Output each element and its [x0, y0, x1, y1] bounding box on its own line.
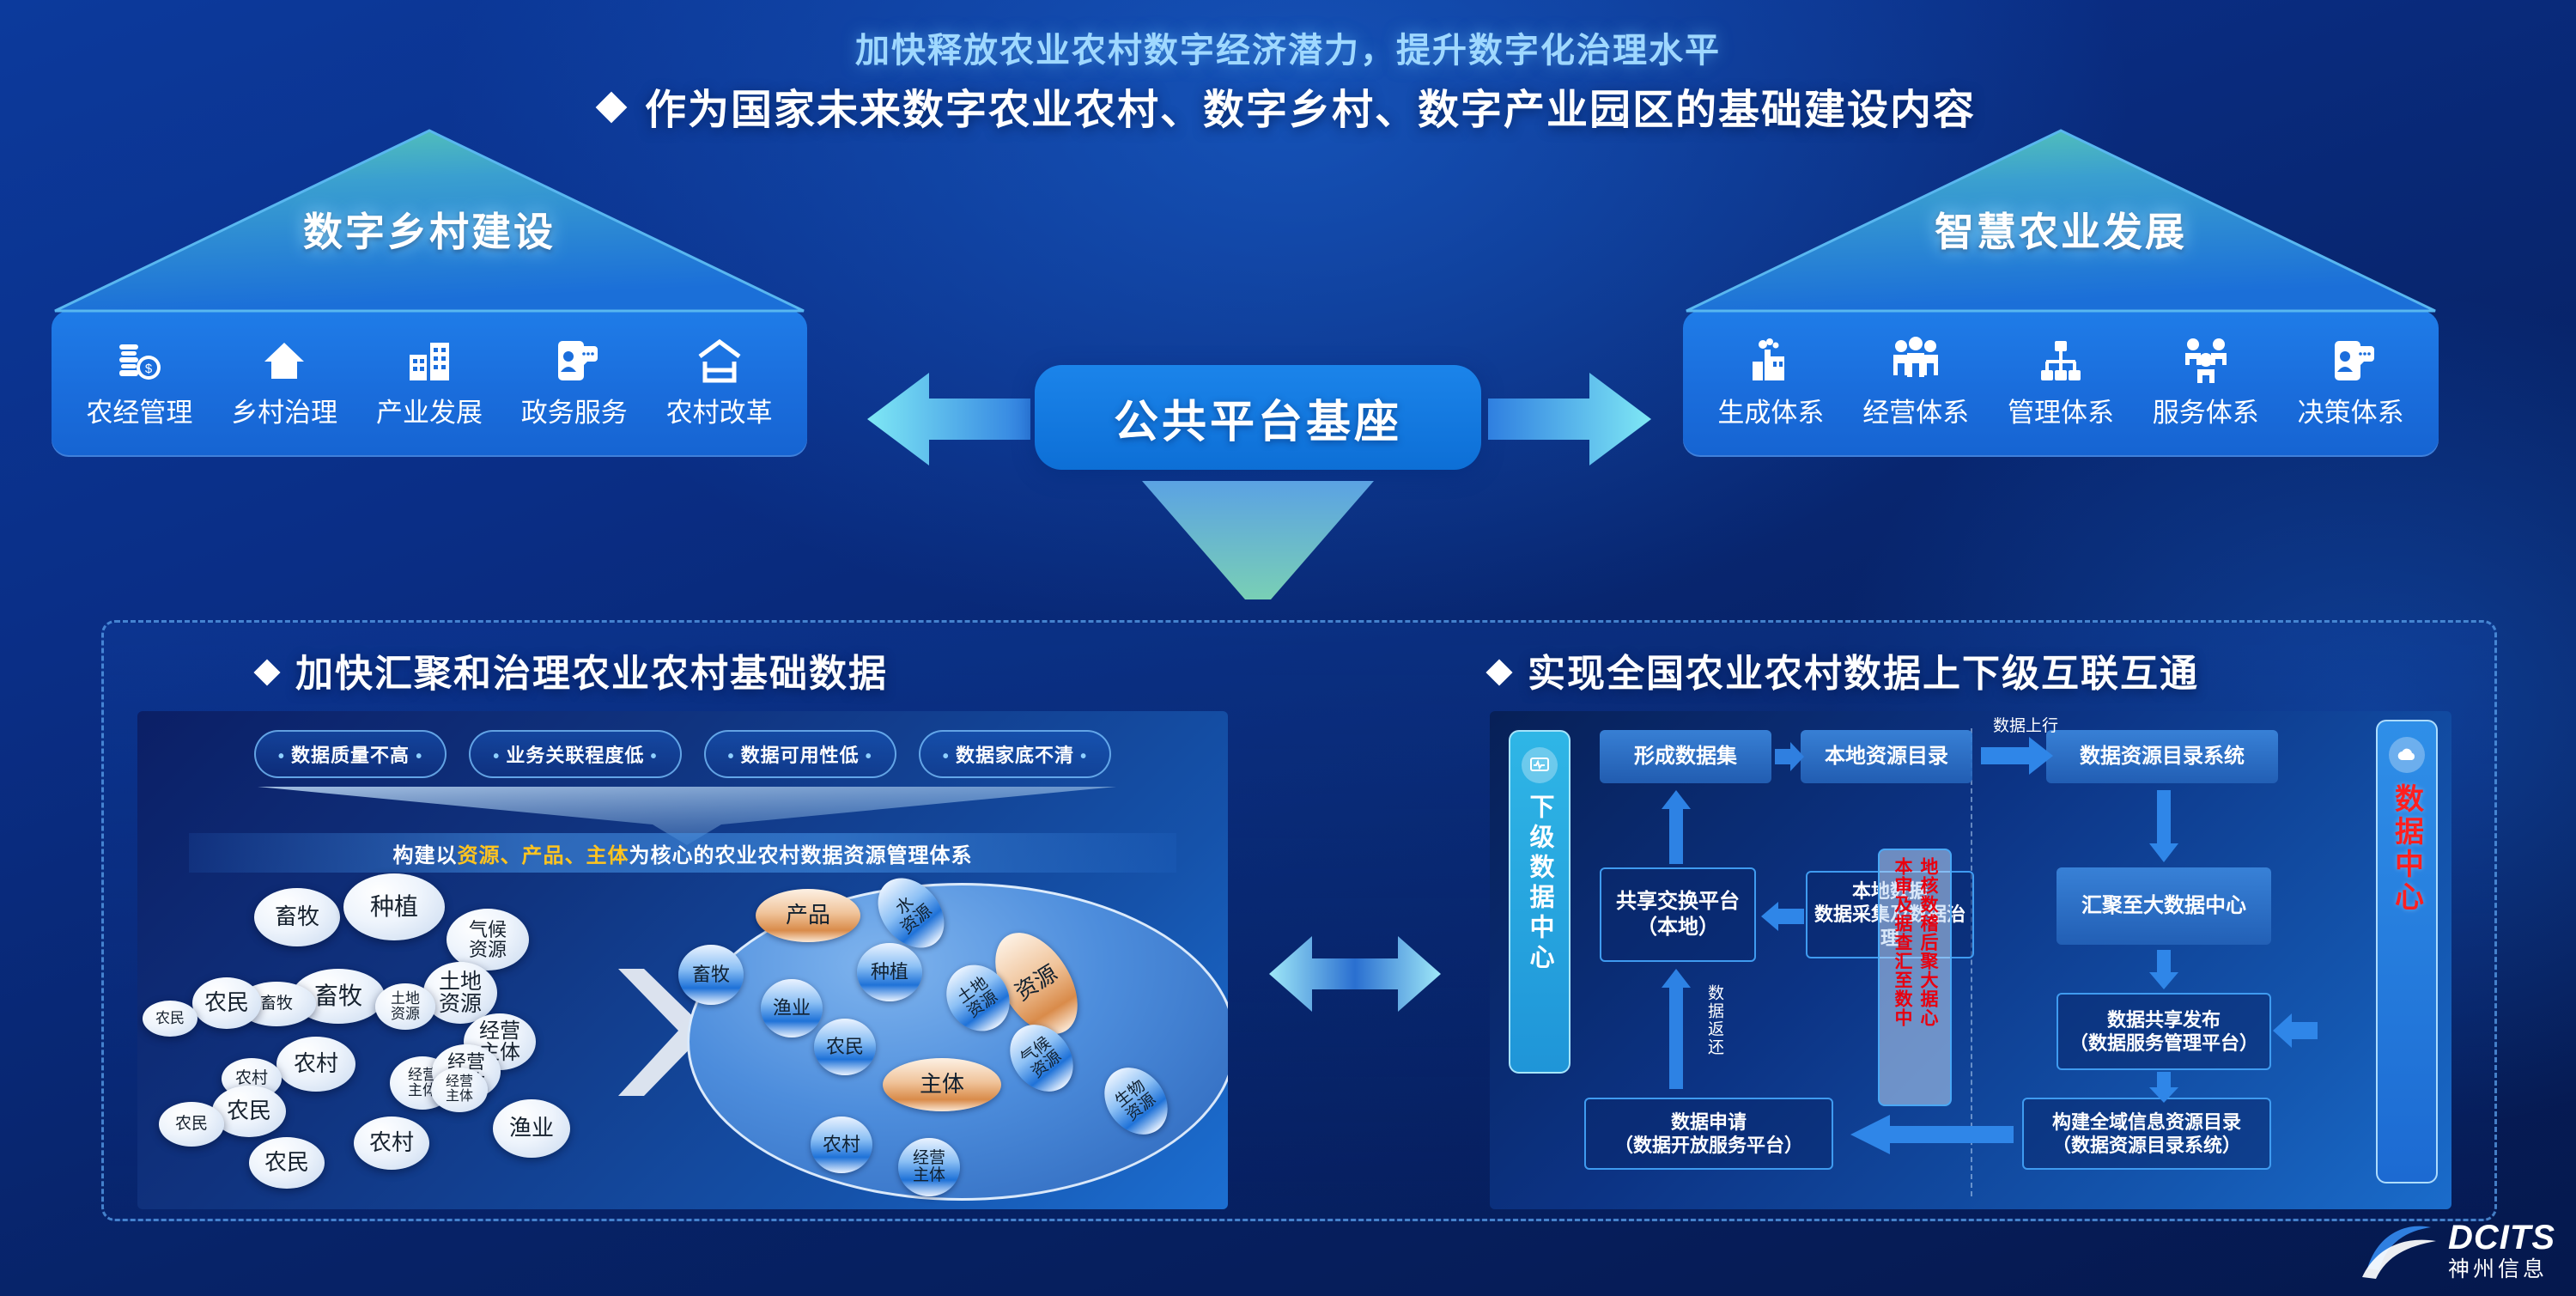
- right-item-1[interactable]: 经营体系: [1847, 331, 1984, 429]
- public-platform-base[interactable]: 公共平台基座: [1035, 365, 1481, 470]
- box-exchange-platform[interactable]: 共享交换平台 （本地）: [1600, 867, 1756, 962]
- org-chart-icon: [2036, 331, 2086, 386]
- left-section-heading: 加快汇聚和治理农业农村基础数据: [258, 642, 888, 697]
- core-model-node: 主体: [883, 1058, 1001, 1111]
- digital-village-title: 数字乡村建设: [52, 201, 807, 258]
- red-annotation-box: 本审及据查汇至数中 地核数稽后聚大据心: [1878, 849, 1952, 1106]
- banner-suffix: 为核心的农业农村数据资源管理体系: [629, 838, 973, 868]
- arrow-up-long-icon: [1662, 969, 1691, 1089]
- service-people-icon: [2179, 331, 2233, 386]
- left-item-4[interactable]: 农村改革: [651, 331, 788, 429]
- arrow-right-small-icon: [1775, 742, 1804, 771]
- core-model-node: 渔业: [761, 979, 823, 1037]
- factory-icon: [1746, 331, 1795, 386]
- mobile-decision-icon: [2326, 331, 2376, 386]
- left-item-2-label: 产业发展: [376, 391, 483, 429]
- data-center-label: 数据中心: [2386, 783, 2428, 914]
- smart-agriculture-title: 智慧农业发展: [1683, 201, 2439, 258]
- core-system-banner: 构建以资源、产品、主体为核心的农业农村数据资源管理体系: [189, 833, 1176, 873]
- buildings-icon: [404, 331, 454, 386]
- problem-pill[interactable]: • 业务关联程度低 •: [469, 730, 681, 778]
- core-model-node: 农村: [811, 1117, 872, 1173]
- core-model-node: 畜牧: [678, 945, 744, 1005]
- left-item-1-label: 乡村治理: [231, 391, 337, 429]
- problem-pill-row: • 数据质量不高 • • 业务关联程度低 • • 数据可用性低 • • 数据家底…: [137, 730, 1228, 778]
- right-item-4-label: 决策体系: [2298, 391, 2404, 429]
- raw-data-bubble: 农村: [276, 1037, 355, 1092]
- core-model-node: 农民: [814, 1019, 876, 1075]
- raw-data-bubble: 经营 主体: [431, 1068, 488, 1112]
- logo-cn: 神州信息: [2448, 1259, 2555, 1281]
- core-model-node: 产品: [756, 889, 860, 942]
- core-model-node: 经营 主体: [898, 1138, 960, 1196]
- banner-prefix: 构建以: [393, 838, 458, 868]
- box-data-apply[interactable]: 数据申请 （数据开放服务平台）: [1584, 1098, 1833, 1170]
- smart-agriculture-block: 智慧农业发展 生成体系: [1683, 127, 2439, 457]
- raw-data-bubble: 农民: [192, 977, 261, 1029]
- raw-data-bubble: 农民: [159, 1102, 224, 1147]
- cloud-icon: [2389, 737, 2425, 773]
- people-group-icon: [1889, 331, 1942, 386]
- raw-data-bubble: 农民: [143, 1001, 197, 1037]
- right-item-0-label: 生成体系: [1717, 391, 1824, 429]
- right-section-heading: 实现全国农业农村数据上下级互联互通: [1490, 642, 2199, 697]
- left-item-0-label: 农经管理: [86, 391, 192, 429]
- digital-village-block: 数字乡村建设 $ 农经管理: [52, 127, 807, 457]
- red-note-right-column: 地核数稽后聚大据心: [1915, 857, 1941, 1027]
- box-aggregate-center[interactable]: 汇聚至大数据中心: [2057, 867, 2271, 945]
- slide-canvas: 加快释放农业农村数字经济潜力，提升数字化治理水平 作为国家未来数字农业农村、数字…: [0, 0, 2576, 1296]
- problem-pill-label: 数据可用性低: [741, 745, 860, 766]
- data-interconnect-board: 下级数据中心 数据中心 形成数据集 本地资源目录 数据资源目录系统 共享交换平台…: [1490, 711, 2451, 1209]
- data-governance-board: • 数据质量不高 • • 业务关联程度低 • • 数据可用性低 • • 数据家底…: [137, 711, 1228, 1209]
- arrow-right-icon: [1488, 369, 1651, 469]
- data-center-rail[interactable]: 数据中心: [2376, 720, 2438, 1183]
- arrow-left-icon: [867, 369, 1030, 469]
- problem-pill[interactable]: • 数据家底不清 •: [919, 730, 1111, 778]
- right-item-2[interactable]: 管理体系: [1992, 331, 2129, 429]
- coin-stack-icon: $: [114, 331, 164, 386]
- right-item-1-label: 经营体系: [1862, 391, 1969, 429]
- banner-highlight: 资源、产品、主体: [458, 838, 629, 868]
- subordinate-data-center-label: 下级数据中心: [1522, 794, 1558, 974]
- core-model-node: 种植: [857, 943, 922, 1001]
- arrow-bidirectional-icon: [1269, 921, 1441, 1032]
- house-icon: [259, 331, 309, 386]
- digital-village-roof: 数字乡村建设: [52, 127, 807, 316]
- digital-village-icon-row: $ 农经管理 乡村治理: [52, 311, 807, 457]
- left-item-3[interactable]: 政务服务: [506, 331, 643, 429]
- diamond-bullet-icon: [596, 92, 628, 124]
- diamond-bullet-icon: [1485, 659, 1512, 685]
- raw-data-bubble: 渔业: [493, 1099, 570, 1158]
- arrow-down-icon: [1142, 481, 1374, 601]
- returned-label: 数据返还: [1703, 984, 1726, 1056]
- arrow-left-from-center-icon: [2273, 1013, 2318, 1048]
- arrow-left-long-icon: [1850, 1115, 2014, 1154]
- company-logo: DCITS 神州信息: [2357, 1217, 2555, 1284]
- right-section-heading-text: 实现全国农业农村数据上下级互联互通: [1528, 653, 2199, 695]
- page-title: 加快释放农业农村数字经济潜力，提升数字化治理水平: [0, 22, 2576, 72]
- problem-pill-label: 数据家底不清: [956, 745, 1074, 766]
- box-catalog-system[interactable]: 数据资源目录系统: [2046, 730, 2278, 783]
- problem-pill[interactable]: • 数据质量不高 •: [254, 730, 447, 778]
- problem-pill-label: 数据质量不高: [291, 745, 410, 766]
- arrow-down-icon: [2149, 790, 2178, 862]
- right-item-0[interactable]: 生成体系: [1702, 331, 1839, 429]
- raw-data-bubble: 种植: [343, 873, 445, 940]
- right-item-3-label: 服务体系: [2153, 391, 2259, 429]
- box-local-catalog[interactable]: 本地资源目录: [1801, 730, 1972, 783]
- raw-data-bubble: 畜牧: [254, 888, 340, 946]
- left-item-3-label: 政务服务: [521, 391, 628, 429]
- subordinate-data-center-rail[interactable]: 下级数据中心: [1509, 730, 1571, 1074]
- left-item-0[interactable]: $ 农经管理: [70, 331, 208, 429]
- left-section-heading-text: 加快汇聚和治理农业农村基础数据: [295, 653, 888, 695]
- arrow-down-icon: [2149, 950, 2178, 989]
- arrow-left-small-icon: [1761, 902, 1804, 931]
- raw-data-bubble: 农村: [354, 1117, 429, 1170]
- dcits-mark-icon: [2357, 1217, 2439, 1284]
- right-item-3[interactable]: 服务体系: [2137, 331, 2275, 429]
- left-item-1[interactable]: 乡村治理: [216, 331, 353, 429]
- problem-pill-label: 业务关联程度低: [506, 745, 644, 766]
- arrow-upstream-icon: [1981, 737, 2053, 775]
- red-note-left-column: 本审及据查汇至数中: [1889, 857, 1915, 1027]
- logo-en: DCITS: [2448, 1220, 2555, 1255]
- svg-text:$: $: [145, 362, 153, 376]
- raw-data-bubble: 土地 资源: [375, 983, 435, 1030]
- box-global-catalog[interactable]: 构建全域信息资源目录 （数据资源目录系统）: [2022, 1098, 2271, 1170]
- farm-house-icon: [695, 331, 744, 386]
- monitor-pulse-icon: [1522, 747, 1558, 783]
- left-item-4-label: 农村改革: [666, 391, 773, 429]
- upstream-label: 数据上行: [1993, 713, 2058, 736]
- smart-agriculture-roof: 智慧农业发展: [1683, 127, 2439, 316]
- arrow-up-icon: [1662, 790, 1691, 864]
- problem-pill[interactable]: • 数据可用性低 •: [704, 730, 896, 778]
- box-share-publish[interactable]: 数据共享发布 （数据服务管理平台）: [2057, 993, 2271, 1070]
- arrow-down-icon: [2149, 1072, 2178, 1103]
- smart-agriculture-icon-row: 生成体系 经营体系: [1683, 311, 2439, 457]
- diamond-bullet-icon: [253, 659, 280, 685]
- right-item-2-label: 管理体系: [2008, 391, 2114, 429]
- logo-wordmark: DCITS 神州信息: [2448, 1220, 2555, 1281]
- box-form-dataset[interactable]: 形成数据集: [1600, 730, 1771, 783]
- raw-data-bubble: 农民: [249, 1137, 325, 1189]
- right-item-4[interactable]: 决策体系: [2282, 331, 2420, 429]
- public-platform-label: 公共平台基座: [1114, 386, 1402, 450]
- mobile-service-icon: [550, 331, 599, 386]
- left-item-2[interactable]: 产业发展: [361, 331, 498, 429]
